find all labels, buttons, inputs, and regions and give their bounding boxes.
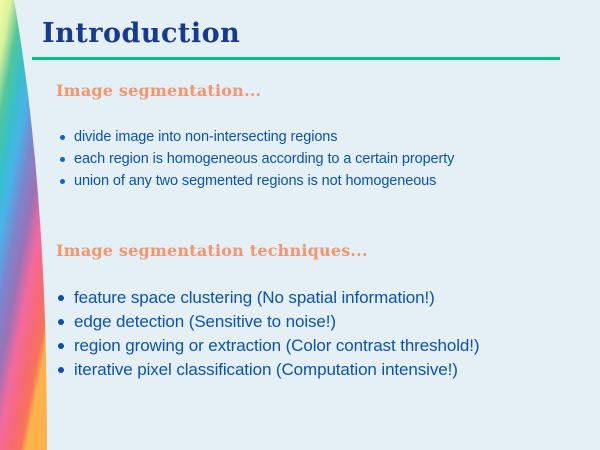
list-item: union of any two segmented regions is no…: [60, 170, 454, 192]
list-item-label: union of any two segmented regions is no…: [74, 173, 436, 189]
list-item: divide image into non-intersecting regio…: [60, 126, 454, 148]
decorative-rainbow-wedge: [0, 0, 60, 450]
bullet-dot-icon: [58, 319, 64, 325]
bullet-dot-icon: [60, 179, 65, 184]
bullet-dot-icon: [60, 135, 65, 140]
bullet-dot-icon: [58, 295, 64, 301]
list-item-label: iterative pixel classification (Computat…: [74, 360, 458, 379]
title-divider-rule: [32, 57, 560, 60]
list-item: feature space clustering (No spatial inf…: [58, 286, 479, 310]
bullet-dot-icon: [58, 343, 64, 349]
list-item-label: feature space clustering (No spatial inf…: [74, 288, 435, 307]
bullet-list-1: divide image into non-intersecting regio…: [60, 126, 454, 192]
section-heading-1: Image segmentation...: [56, 81, 261, 100]
section-heading-2: Image segmentation techniques...: [56, 241, 368, 260]
bullet-dot-icon: [58, 367, 64, 373]
list-item: region growing or extraction (Color cont…: [58, 334, 479, 358]
list-item-label: edge detection (Sensitive to noise!): [74, 312, 336, 331]
presentation-slide: Introduction Image segmentation... divid…: [0, 0, 600, 450]
list-item: iterative pixel classification (Computat…: [58, 358, 479, 382]
slide-title: Introduction: [42, 18, 240, 49]
list-item: each region is homogeneous according to …: [60, 148, 454, 170]
list-item: edge detection (Sensitive to noise!): [58, 310, 479, 334]
list-item-label: each region is homogeneous according to …: [74, 151, 454, 167]
list-item-label: divide image into non-intersecting regio…: [74, 129, 337, 145]
bullet-dot-icon: [60, 157, 65, 162]
list-item-label: region growing or extraction (Color cont…: [74, 336, 479, 355]
bullet-list-2: feature space clustering (No spatial inf…: [58, 286, 479, 382]
